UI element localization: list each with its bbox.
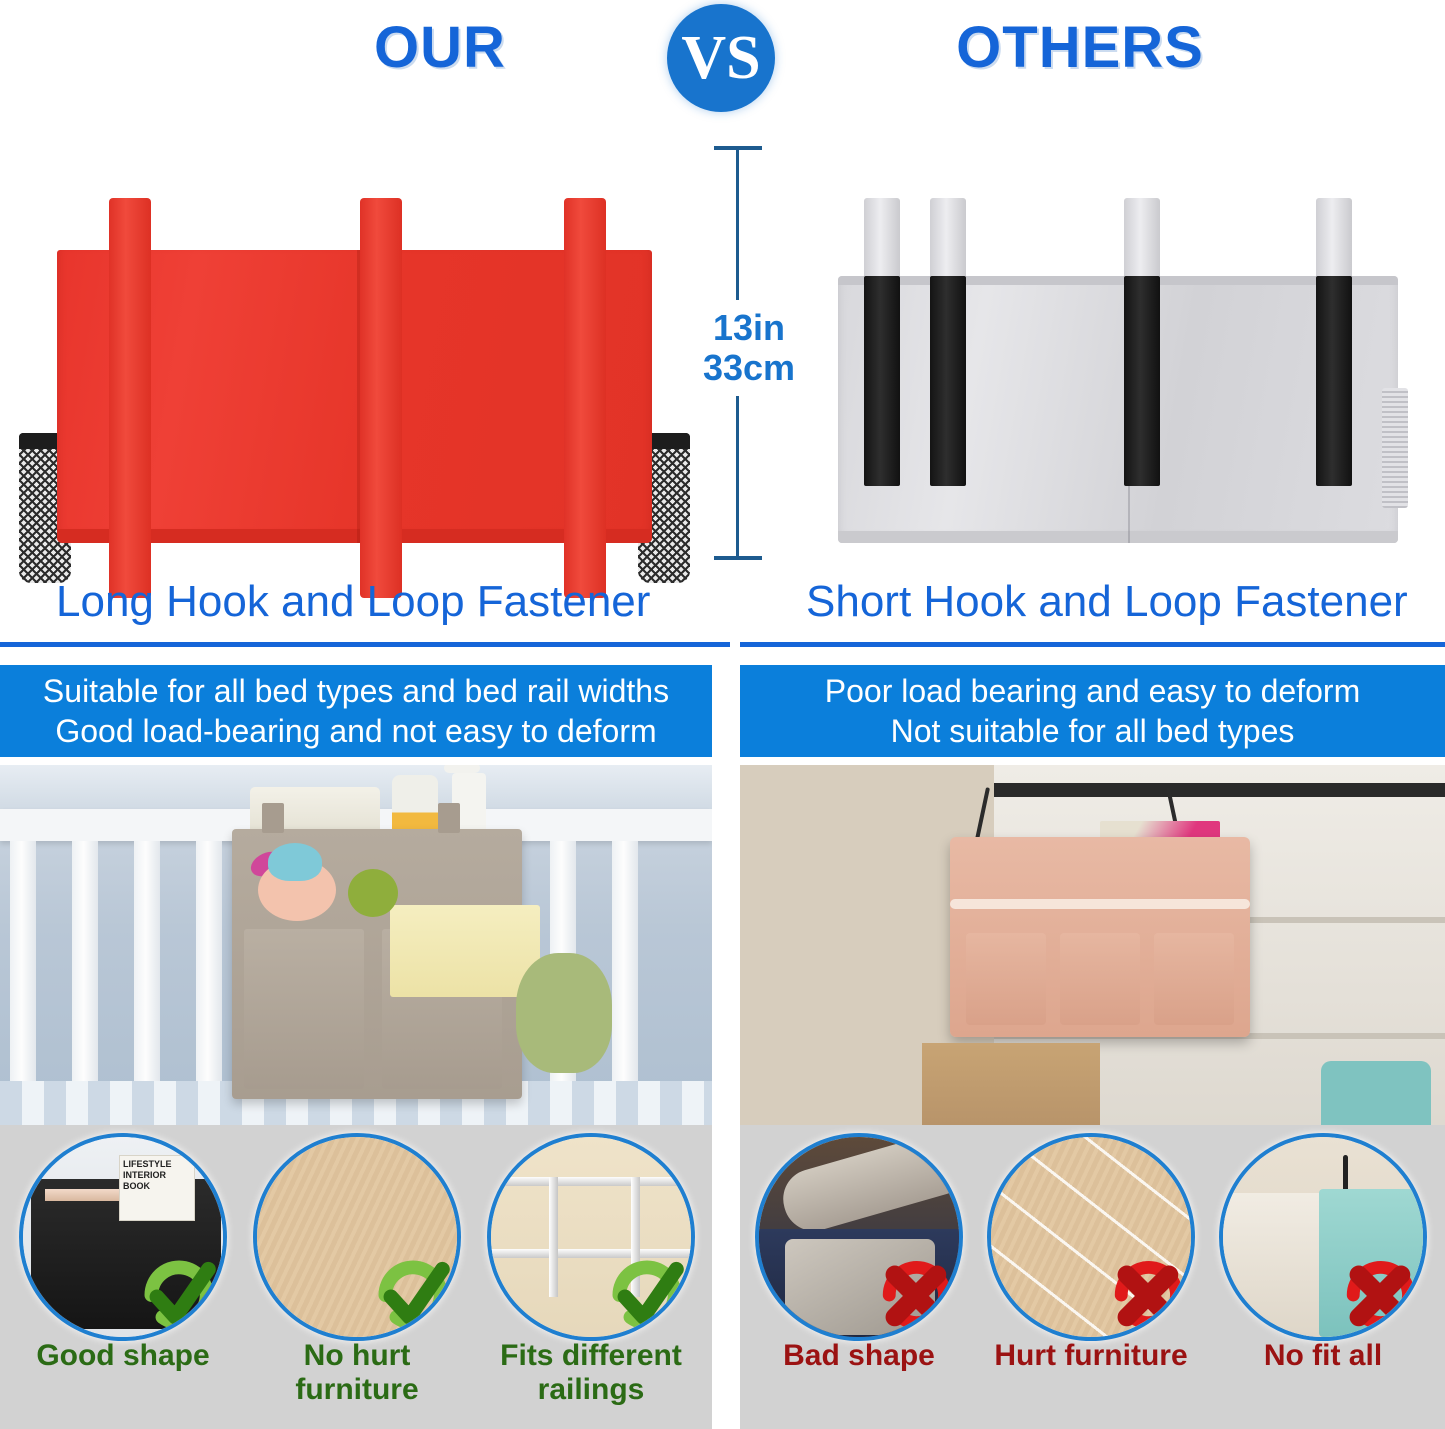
green-check-icon [133,1249,225,1341]
feature-thumbnail [987,1133,1195,1341]
velcro-patch [930,276,966,486]
our-heading: OUR [300,14,580,81]
short-strap-3 [1316,198,1352,498]
crib-slat [134,841,160,1081]
crib-slat [72,841,98,1081]
folded-clothing [390,905,540,997]
crib-slat [612,841,638,1081]
plush-cow-head [268,843,322,881]
metal-rail [994,783,1445,797]
caption-rule-left [0,642,730,647]
bag-body [838,276,1398,543]
banner-left-line2: Good load-bearing and not easy to deform [55,711,656,751]
rail-post [549,1177,558,1297]
dimension-cap-bottom [714,556,762,560]
red-cross-icon [1333,1249,1425,1341]
feature-cell-no-fit-all: No fit all [1212,1133,1434,1429]
strap-fabric [1124,198,1160,286]
velcro-patch [864,276,900,486]
feature-thumbnail: LIFESTYLE INTERIOR BOOK [19,1133,227,1341]
others-heading: OTHERS [870,14,1290,81]
banner-left-line1: Suitable for all bed types and bed rail … [43,671,669,711]
banner-right-line2: Not suitable for all bed types [891,711,1295,751]
feature-label: No fit all [1212,1339,1434,1373]
cardboard-box [922,1043,1100,1125]
teal-chair [1321,1061,1431,1125]
feature-thumbnail [487,1133,695,1341]
organizer-front-pocket [244,929,364,1089]
feature-cell-good-shape: LIFESTYLE INTERIOR BOOK Good shape [10,1133,236,1429]
feature-label: Good shape [10,1339,236,1373]
organizer-front-pocket [966,933,1046,1025]
velcro-patch [1316,276,1352,486]
feature-cell-no-hurt-furniture: No hurt furniture [244,1133,470,1429]
benefit-banner-left: Suitable for all bed types and bed rail … [0,665,712,757]
plush-dinosaur-toy [516,953,612,1073]
comparison-infographic: OUR VS OTHERS 13in 33cm [0,0,1445,1429]
strap-fabric [1316,198,1352,286]
short-strap-1-back [930,198,966,498]
furniture-edge [1223,1193,1331,1337]
feature-label: Fits different railings [478,1339,704,1407]
feature-strip-left: LIFESTYLE INTERIOR BOOK Good shape [0,1125,712,1429]
our-product-red-organizer [57,198,652,543]
short-strap-2 [1124,198,1160,498]
lifestyle-photo-crib [0,765,712,1125]
dimension-centimeters: 33cm [690,348,808,388]
dimension-inches: 13in [690,308,808,348]
banner-right-line1: Poor load bearing and easy to deform [825,671,1360,711]
caption-right: Short Hook and Loop Fastener [806,577,1408,627]
feature-label: Hurt furniture [980,1339,1202,1373]
strap-fabric [864,198,900,286]
vs-badge: VS [667,4,775,112]
green-check-icon [367,1249,459,1341]
crib-slat [10,841,36,1081]
red-cross-icon [869,1249,961,1341]
header: OUR VS OTHERS [0,0,1445,120]
height-dimension: 13in 33cm [702,138,792,568]
long-strap-2 [360,198,402,598]
feature-thumbnail [1219,1133,1427,1341]
caption-left: Long Hook and Loop Fastener [56,577,650,627]
caption-row: Long Hook and Loop Fastener Short Hook a… [0,575,1445,653]
product-comparison-row: 13in 33cm [0,120,1445,575]
long-strap-1 [109,198,151,598]
feature-cell-fits-railings: Fits different railings [478,1133,704,1429]
organizer-front-pocket [1154,933,1234,1025]
feature-label: No hurt furniture [244,1339,470,1407]
organizer-rim [950,899,1250,909]
green-check-icon [601,1249,693,1341]
lifestyle-photo-bedroom [740,765,1445,1125]
competitor-product-grey-organizer [838,198,1398,543]
feature-label: Bad shape [748,1339,970,1373]
feature-cell-bad-shape: Bad shape [748,1133,970,1429]
feature-cell-hurt-furniture: Hurt furniture [980,1133,1202,1429]
mesh-pocket-right [1382,388,1408,508]
book-cover: LIFESTYLE INTERIOR BOOK [119,1155,195,1221]
long-strap-3 [564,198,606,598]
rolled-fabric [776,1133,963,1238]
drawback-banner-right: Poor load bearing and easy to deform Not… [740,665,1445,757]
rail-bar [487,1177,695,1186]
organizer-strap [262,803,284,833]
strap-fabric [930,198,966,286]
caption-rule-right [740,642,1445,647]
red-cross-icon [1101,1249,1193,1341]
feature-thumbnail [253,1133,461,1341]
plush-green-toy [348,869,398,917]
bedroom-scene [740,765,1445,1125]
crib-scene [0,765,712,1125]
feature-strip-right: Bad shape Hurt furniture [740,1125,1445,1429]
dimension-label: 13in 33cm [690,300,808,396]
crib-slat [196,841,222,1081]
velcro-patch [1124,276,1160,486]
organizer-front-pocket [1060,933,1140,1025]
organizer-strap [438,803,460,833]
feature-thumbnail [755,1133,963,1341]
pink-organizer [950,837,1250,1037]
short-strap-1 [864,198,900,498]
